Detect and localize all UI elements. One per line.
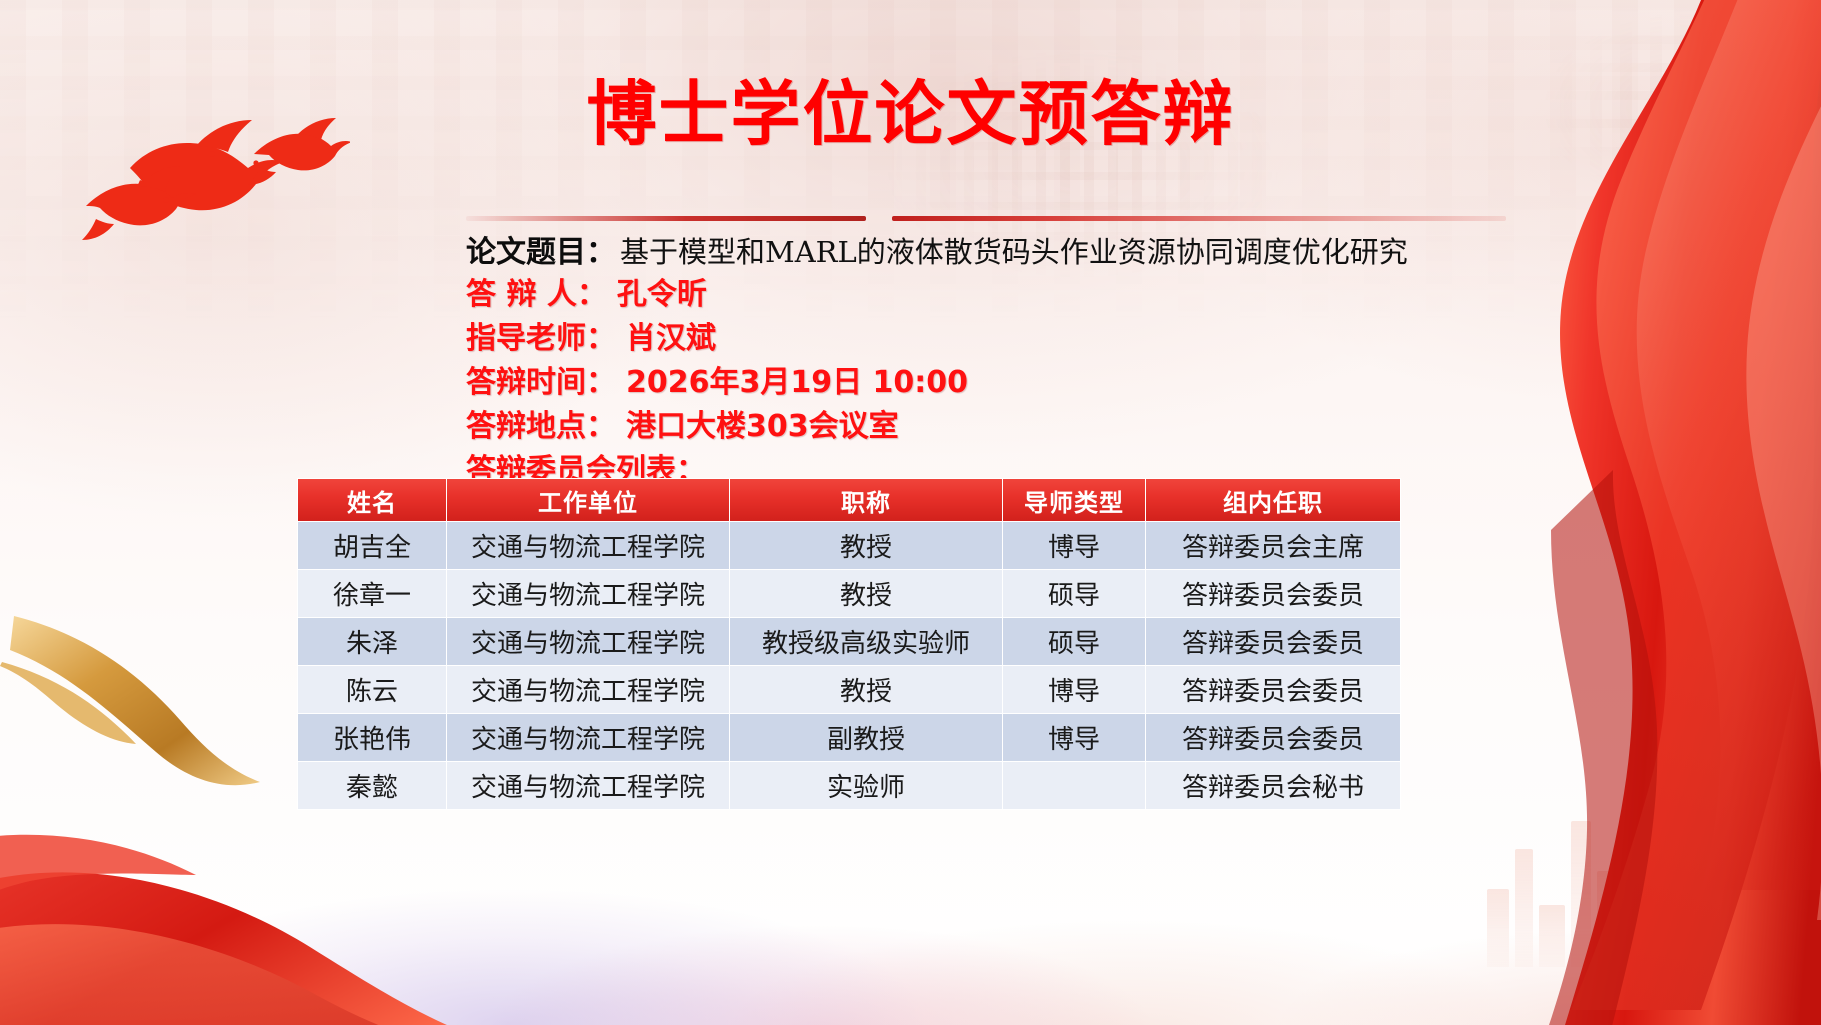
cell-mentor: 硕导 (1003, 570, 1145, 617)
cell-name: 朱泽 (298, 618, 446, 665)
cell-role: 答辩委员会委员 (1146, 570, 1400, 617)
defense-time-label: 答辩时间： (466, 368, 616, 398)
cell-name: 陈云 (298, 666, 446, 713)
column-header-name: 姓名 (298, 479, 446, 521)
advisor-label: 指导老师： (466, 324, 616, 354)
table-row: 徐章一 交通与物流工程学院 教授 硕导 答辩委员会委员 (298, 570, 1400, 617)
table-header-row: 姓名 工作单位 职称 导师类型 组内任职 (298, 479, 1400, 521)
cell-role: 答辩委员会委员 (1146, 666, 1400, 713)
thesis-title-line: 论文题目： 基于模型和MARL的液体散货码头作业资源协同调度优化研究 (466, 238, 1408, 268)
cell-title: 副教授 (730, 714, 1002, 761)
defense-time-value: 2026年3月19日 10:00 (626, 368, 968, 398)
title-divider (466, 215, 1506, 221)
divider-rule-right (892, 216, 1506, 221)
cell-name: 秦懿 (298, 762, 446, 809)
defense-place-label: 答辩地点： (466, 412, 616, 442)
table-row: 张艳伟 交通与物流工程学院 副教授 博导 答辩委员会委员 (298, 714, 1400, 761)
city-skyline-icon (1481, 777, 1781, 967)
committee-table: 姓名 工作单位 职称 导师类型 组内任职 胡吉全 交通与物流工程学院 教授 博导… (297, 478, 1401, 810)
cell-mentor: 硕导 (1003, 618, 1145, 665)
committee-table-head: 姓名 工作单位 职称 导师类型 组内任职 (298, 479, 1400, 521)
cell-role: 答辩委员会委员 (1146, 618, 1400, 665)
column-header-title: 职称 (730, 479, 1002, 521)
cell-unit: 交通与物流工程学院 (447, 522, 729, 569)
cell-mentor: 博导 (1003, 522, 1145, 569)
committee-table-body: 胡吉全 交通与物流工程学院 教授 博导 答辩委员会主席 徐章一 交通与物流工程学… (298, 522, 1400, 809)
cell-name: 张艳伟 (298, 714, 446, 761)
table-row: 陈云 交通与物流工程学院 教授 博导 答辩委员会委员 (298, 666, 1400, 713)
page-title: 博士学位论文预答辩 (0, 58, 1821, 159)
cell-role: 答辩委员会委员 (1146, 714, 1400, 761)
candidate-value: 孔令昕 (617, 280, 707, 310)
candidate-label: 答 辩 人： (466, 280, 607, 310)
defense-time-line: 答辩时间： 2026年3月19日 10:00 (466, 368, 1408, 398)
table-row: 胡吉全 交通与物流工程学院 教授 博导 答辩委员会主席 (298, 522, 1400, 569)
cell-mentor: 博导 (1003, 666, 1145, 713)
defense-place-value: 港口大楼303会议室 (626, 412, 899, 442)
defense-info-block: 论文题目： 基于模型和MARL的液体散货码头作业资源协同调度优化研究 答 辩 人… (466, 238, 1408, 500)
thesis-title-value: 基于模型和MARL的液体散货码头作业资源协同调度优化研究 (620, 238, 1408, 267)
cell-name: 胡吉全 (298, 522, 446, 569)
column-header-mentor: 导师类型 (1003, 479, 1145, 521)
cell-title: 教授 (730, 666, 1002, 713)
column-header-unit: 工作单位 (447, 479, 729, 521)
defense-place-line: 答辩地点： 港口大楼303会议室 (466, 412, 1408, 442)
cell-role: 答辩委员会主席 (1146, 522, 1400, 569)
cell-unit: 交通与物流工程学院 (447, 570, 729, 617)
cell-unit: 交通与物流工程学院 (447, 618, 729, 665)
cell-title: 教授 (730, 522, 1002, 569)
advisor-line: 指导老师： 肖汉斌 (466, 324, 1408, 354)
table-row: 朱泽 交通与物流工程学院 教授级高级实验师 硕导 答辩委员会委员 (298, 618, 1400, 665)
poster-slide: 博士学位论文预答辩 论文题目： 基于模型和MARL的液体散货码头作业资源协同调度… (0, 0, 1821, 1025)
cell-title: 实验师 (730, 762, 1002, 809)
cell-title: 教授级高级实验师 (730, 618, 1002, 665)
cell-unit: 交通与物流工程学院 (447, 762, 729, 809)
cell-mentor: 博导 (1003, 714, 1145, 761)
cell-title: 教授 (730, 570, 1002, 617)
cell-name: 徐章一 (298, 570, 446, 617)
committee-table-wrap: 姓名 工作单位 职称 导师类型 组内任职 胡吉全 交通与物流工程学院 教授 博导… (297, 478, 1395, 810)
cell-unit: 交通与物流工程学院 (447, 714, 729, 761)
divider-rule-left (466, 216, 866, 221)
advisor-value: 肖汉斌 (626, 324, 716, 354)
cell-unit: 交通与物流工程学院 (447, 666, 729, 713)
column-header-role: 组内任职 (1146, 479, 1400, 521)
thesis-title-label: 论文题目： (466, 238, 616, 268)
cell-mentor (1003, 762, 1145, 809)
table-row: 秦懿 交通与物流工程学院 实验师 答辩委员会秘书 (298, 762, 1400, 809)
cell-role: 答辩委员会秘书 (1146, 762, 1400, 809)
candidate-line: 答 辩 人： 孔令昕 (466, 280, 1408, 310)
